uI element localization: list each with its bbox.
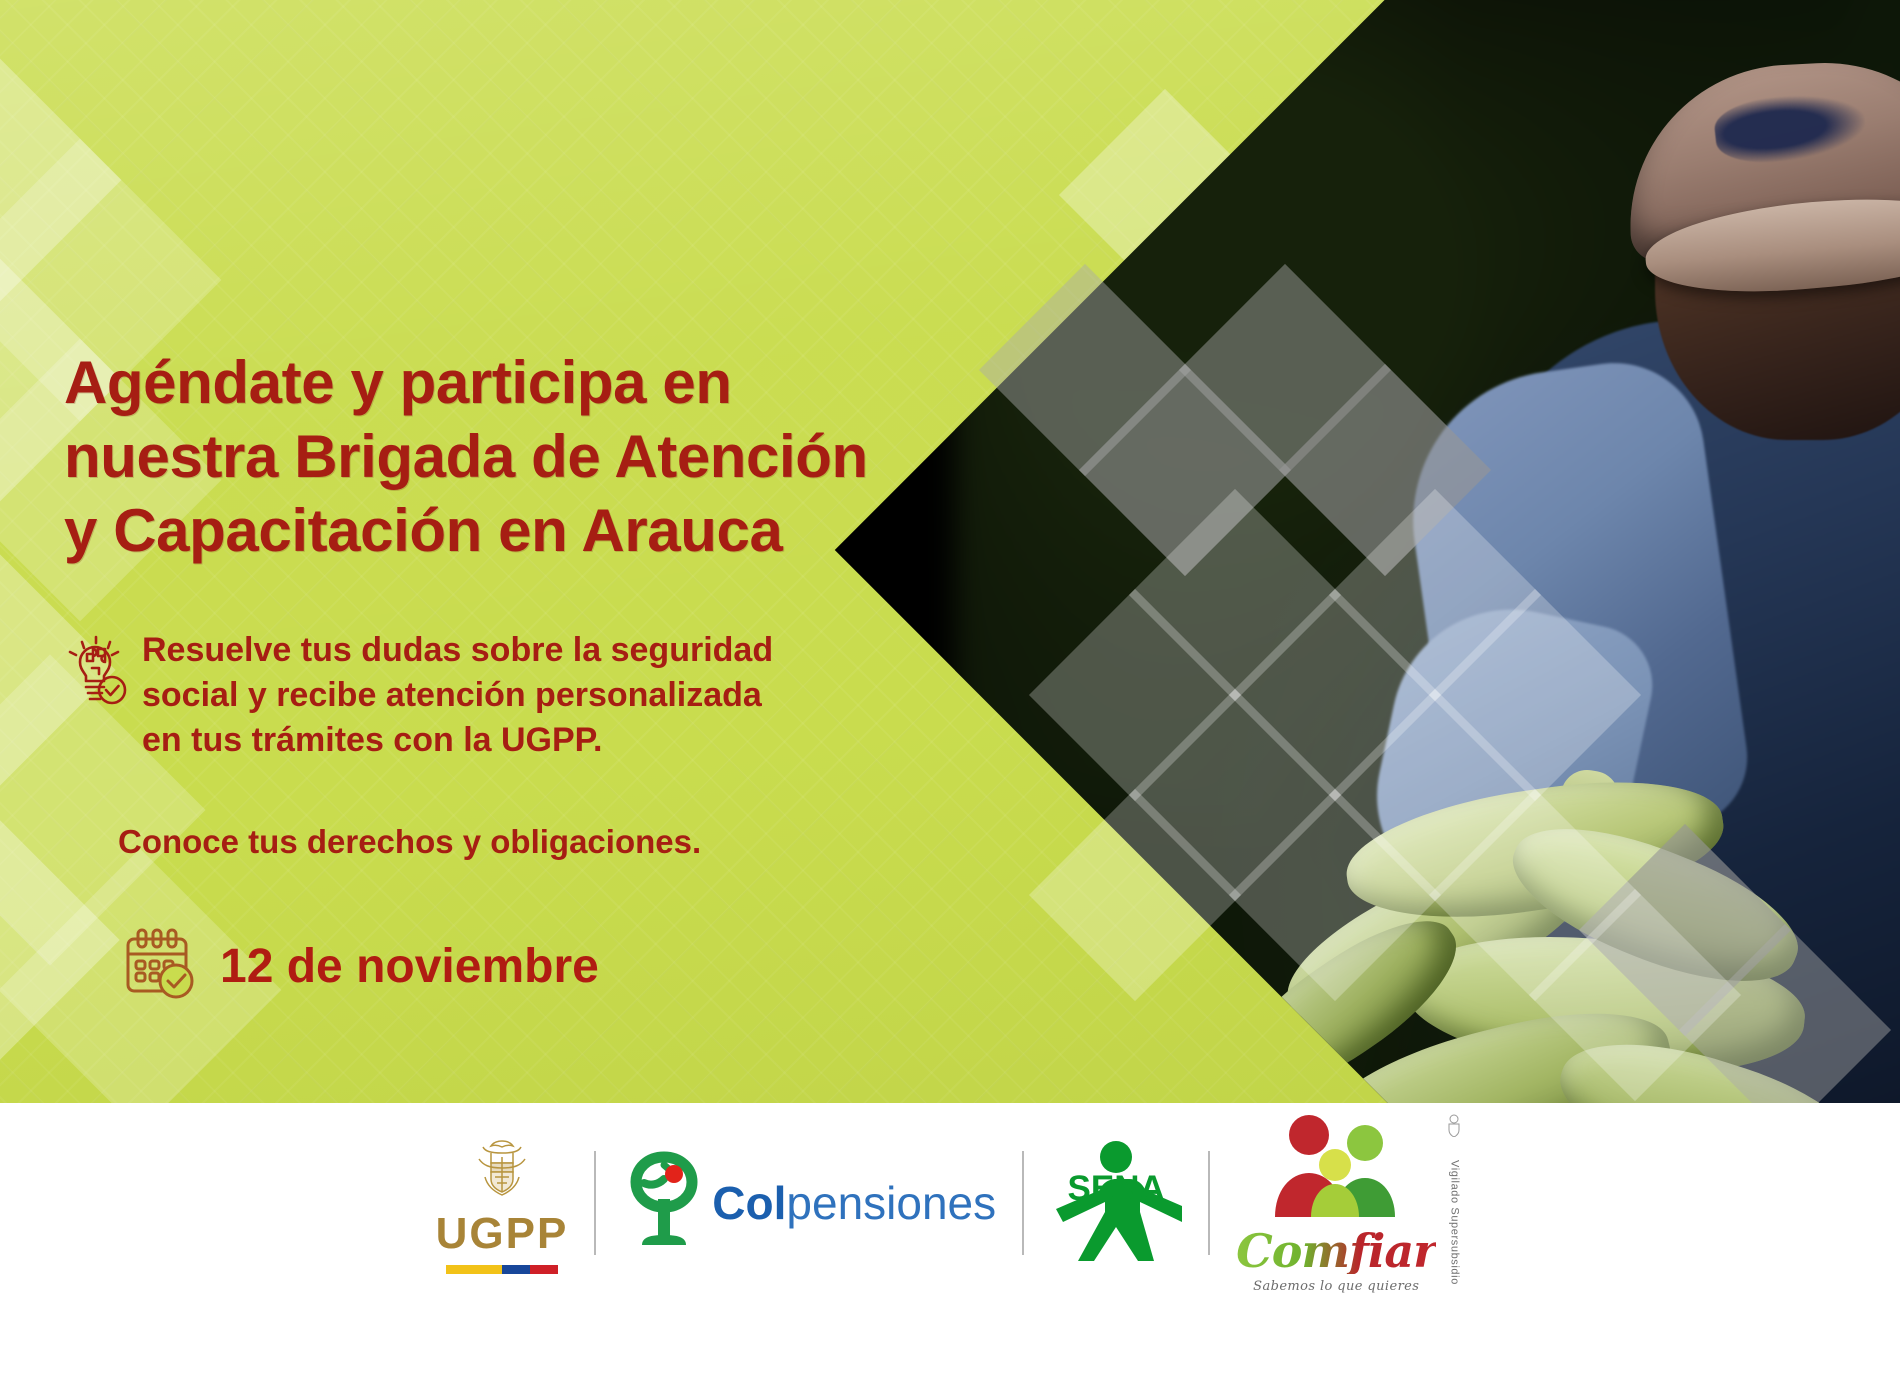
colpensiones-wordmark-bold: Col xyxy=(712,1177,786,1229)
headline-line-1: Agéndate y participa en xyxy=(64,346,1064,420)
sena-wordmark: SENA xyxy=(1050,1169,1182,1209)
supervision-label: Vigilado Supersubsidio xyxy=(1448,1160,1460,1285)
logo-sena: SENA xyxy=(1024,1123,1208,1283)
tree-icon xyxy=(622,1145,706,1262)
page-title: Agéndate y participa en nuestra Brigada … xyxy=(64,346,1064,567)
colombia-coat-of-arms-icon xyxy=(469,1133,535,1210)
lead-line-2: social y recibe atención personalizada xyxy=(142,673,773,718)
footer-logo-bar: UGPP xyxy=(0,1103,1900,1390)
calendar-check-icon xyxy=(120,925,198,1008)
promotional-banner: Agéndate y participa en nuestra Brigada … xyxy=(0,0,1900,1390)
event-date-label: 12 de noviembre xyxy=(220,939,599,994)
photo-image xyxy=(955,0,1900,1103)
poster-content: Agéndate y participa en nuestra Brigada … xyxy=(0,0,1060,1103)
event-date: 12 de noviembre xyxy=(120,925,599,1008)
headline-line-2: nuestra Brigada de Atención xyxy=(64,420,1064,494)
logo-colpensiones: Colpensiones xyxy=(596,1123,1022,1283)
comfiar-tagline: Sabemos lo que quieres xyxy=(1253,1279,1419,1294)
ugpp-wordmark: UGPP xyxy=(436,1212,569,1256)
colombia-flag-bar xyxy=(446,1265,558,1274)
lead-text: Resuelve tus dudas sobre la seguridad so… xyxy=(142,628,773,764)
poster-area: Agéndate y participa en nuestra Brigada … xyxy=(0,0,1900,1103)
supervision-mark: Vigilado Supersubsidio xyxy=(1444,1113,1464,1285)
colpensiones-wordmark-light: pensiones xyxy=(786,1177,996,1229)
family-figures-icon xyxy=(1261,1113,1411,1226)
lead-paragraph: Resuelve tus dudas sobre la seguridad so… xyxy=(60,628,940,764)
logo-ugpp: UGPP xyxy=(410,1123,595,1283)
comfiar-wordmark: Comfiar xyxy=(1236,1228,1436,1274)
photo-scene xyxy=(955,0,1900,1103)
colpensiones-wordmark: Colpensiones xyxy=(712,1180,996,1226)
cta-text: Conoce tus derechos y obligaciones. xyxy=(118,823,701,861)
logo-comfiar: Comfiar Sabemos lo que quieres Vigilado … xyxy=(1210,1123,1490,1283)
colombia-coat-of-arms-icon xyxy=(1444,1113,1464,1142)
lead-line-3: en tus trámites con la UGPP. xyxy=(142,718,773,763)
logo-strip: UGPP xyxy=(0,1103,1900,1303)
headline-line-3: y Capacitación en Arauca xyxy=(64,494,1064,568)
lead-line-1: Resuelve tus dudas sobre la seguridad xyxy=(142,628,773,673)
photo-plantain-bunch xyxy=(1255,730,1875,1103)
puzzle-lightbulb-check-icon xyxy=(60,632,130,713)
